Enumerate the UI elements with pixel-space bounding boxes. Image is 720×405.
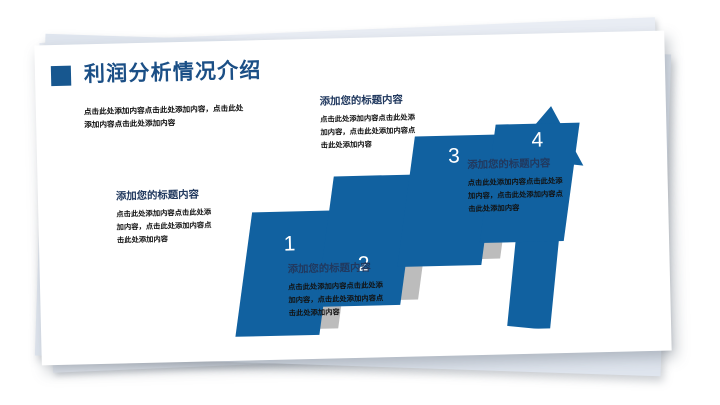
text-block-body: 点击此处添加内容点击此处添 加内容，点击此处添加内容点 击此处添加内容 bbox=[320, 112, 416, 152]
text-block-body: 点击此处添加内容点击此处添 加内容，点击此处添加内容点 击此处添加内容 bbox=[468, 176, 564, 216]
body-line: 击此处添加内容 bbox=[117, 232, 212, 247]
title-label: 利润分析情况介绍 bbox=[84, 60, 262, 85]
text-block-heading: 添加您的标题内容 bbox=[116, 189, 211, 204]
text-block-top: 添加您的标题内容 点击此处添加内容点击此处添 加内容，点击此处添加内容点 击此处… bbox=[320, 95, 416, 152]
text-block-heading: 添加您的标题内容 bbox=[320, 95, 415, 110]
staircase-diagram: 1 2 3 4 bbox=[215, 81, 641, 336]
text-block-bottom: 添加您的标题内容 点击此处添加内容点击此处添 加内容，点击此处添加内容点 击此处… bbox=[288, 262, 384, 319]
step-number-4: 4 bbox=[531, 130, 543, 151]
slide-page[interactable]: 利润分析情况介绍 点击此处添加内容点击此处添加内容，点击此处 添加内容点击此处添… bbox=[34, 31, 671, 366]
body-line: 加内容，点击此处添加内容点 bbox=[288, 292, 383, 307]
text-block-left: 添加您的标题内容 点击此处添加内容点击此处添 加内容，点击此处添加内容点 击此处… bbox=[116, 189, 212, 246]
text-block-right: 添加您的标题内容 点击此处添加内容点击此处添 加内容，点击此处添加内容点 击此处… bbox=[467, 158, 563, 215]
title-square-icon bbox=[51, 65, 71, 85]
body-line: 击此处添加内容 bbox=[468, 201, 563, 216]
body-line: 击此处添加内容 bbox=[321, 137, 416, 152]
text-block-heading: 添加您的标题内容 bbox=[467, 158, 562, 173]
body-line: 加内容，点击此处添加内容点 bbox=[468, 188, 563, 203]
slide-stage: 利润分析情况介绍 点击此处添加内容点击此处添加内容，点击此处 添加内容点击此处添… bbox=[0, 0, 720, 405]
step-number-1: 1 bbox=[283, 233, 295, 254]
slide-content: 利润分析情况介绍 点击此处添加内容点击此处添加内容，点击此处 添加内容点击此处添… bbox=[34, 31, 671, 366]
body-line: 加内容，点击此处添加内容点 bbox=[116, 219, 211, 234]
text-block-body: 点击此处添加内容点击此处添 加内容，点击此处添加内容点 击此处添加内容 bbox=[288, 280, 384, 320]
body-line: 击此处添加内容 bbox=[289, 305, 384, 320]
page-title: 利润分析情况介绍 bbox=[51, 60, 262, 86]
step-number-3: 3 bbox=[448, 145, 460, 166]
body-line: 加内容，点击此处添加内容点 bbox=[320, 125, 415, 140]
text-block-heading: 添加您的标题内容 bbox=[288, 262, 383, 277]
text-block-body: 点击此处添加内容点击此处添 加内容，点击此处添加内容点 击此处添加内容 bbox=[116, 207, 212, 247]
